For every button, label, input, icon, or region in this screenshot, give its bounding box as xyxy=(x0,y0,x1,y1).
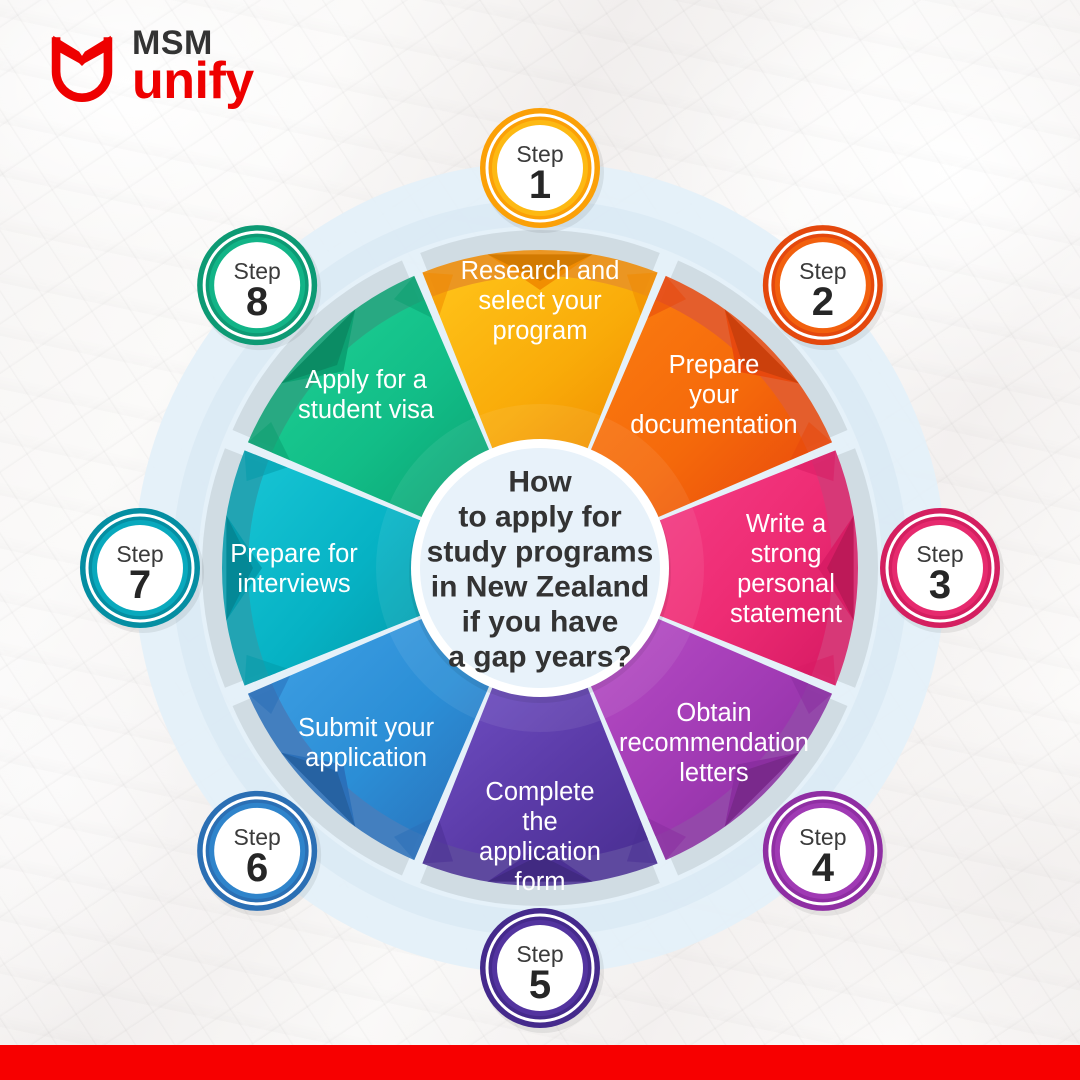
wheel-center-hub: Howto apply forstudy programsin New Zeal… xyxy=(409,439,671,703)
bottom-red-bar xyxy=(0,1045,1080,1080)
step-badge-number-5: 5 xyxy=(529,963,551,1007)
step-badge-number-8: 8 xyxy=(246,280,268,324)
step-badge-number-7: 7 xyxy=(129,563,151,607)
step-badge-number-2: 2 xyxy=(812,280,834,324)
step-badge-number-1: 1 xyxy=(529,163,551,207)
step-badge-number-4: 4 xyxy=(812,846,835,890)
process-wheel-infographic: Research andselect yourprogramPrepareyou… xyxy=(0,0,1080,1080)
step-badge-4[interactable]: Step4 xyxy=(763,791,887,916)
step-badge-number-6: 6 xyxy=(246,846,268,890)
step-badge-number-3: 3 xyxy=(929,563,951,607)
